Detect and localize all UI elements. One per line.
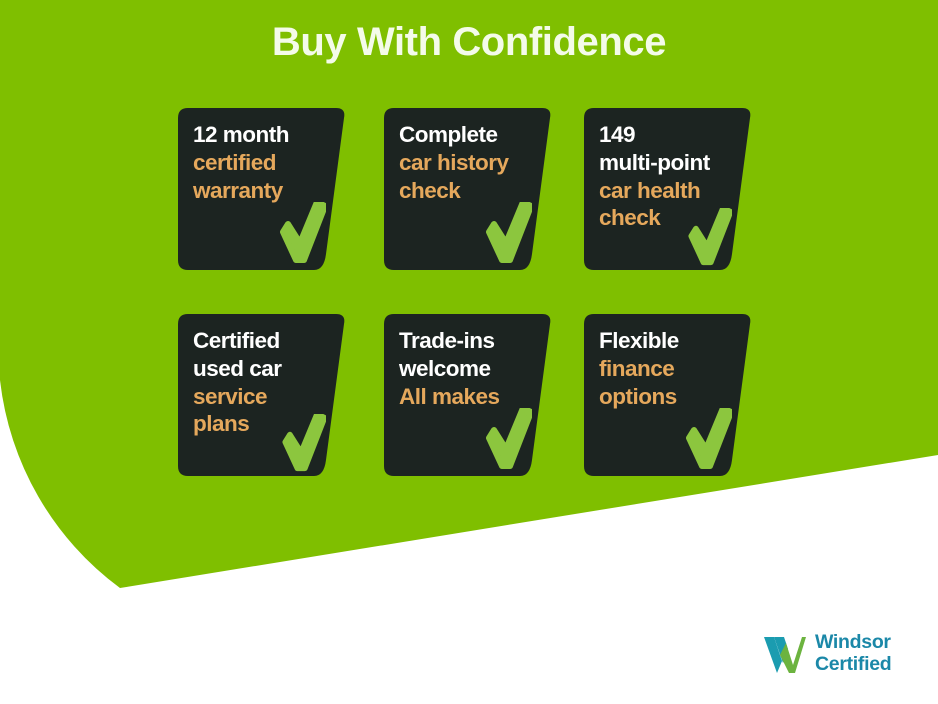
page-title: Buy With Confidence	[0, 18, 938, 66]
logo-line-2: Certified	[815, 654, 891, 676]
check-mark-icon	[686, 208, 732, 266]
logo-line-1: Windsor	[815, 632, 891, 654]
card-line-accent: warranty	[193, 177, 335, 205]
benefit-card-12-month-certified-warranty[interactable]: 12 month certified warranty	[178, 108, 346, 270]
benefit-card-complete-car-history-check[interactable]: Complete car history check	[384, 108, 552, 270]
card-line-accent: options	[599, 383, 741, 411]
card-line-accent: All makes	[399, 383, 541, 411]
logo-wordmark: Windsor Certified	[815, 632, 891, 676]
benefit-card-certified-used-car-service-plans[interactable]: Certified used car service plans	[178, 314, 346, 476]
card-line-accent: car health	[599, 177, 741, 205]
card-line-white: used car	[193, 355, 335, 383]
benefit-card-flexible-finance-options[interactable]: Flexible finance options	[584, 314, 752, 476]
benefit-card-grid: 12 month certified warranty Complete car…	[178, 108, 758, 476]
card-text: 12 month certified warranty	[193, 121, 335, 204]
check-mark-icon	[280, 414, 326, 472]
card-line-white: Flexible	[599, 327, 741, 355]
check-mark-icon	[278, 202, 326, 264]
card-text: Complete car history check	[399, 121, 541, 204]
card-line-white: welcome	[399, 355, 541, 383]
card-line-white: Certified	[193, 327, 335, 355]
card-line-white: 149	[599, 121, 741, 149]
check-mark-icon	[484, 202, 532, 264]
card-text: Trade-ins welcome All makes	[399, 327, 541, 410]
card-line-accent: certified	[193, 149, 335, 177]
card-line-white: 12 month	[193, 121, 335, 149]
card-line-white: Trade-ins	[399, 327, 541, 355]
card-text: Flexible finance options	[599, 327, 741, 410]
card-line-accent: check	[399, 177, 541, 205]
check-mark-icon	[484, 408, 532, 470]
benefit-card-149-multi-point-car-health-check[interactable]: 149 multi-point car health check	[584, 108, 752, 270]
card-line-white: multi-point	[599, 149, 741, 177]
card-line-accent: car history	[399, 149, 541, 177]
windsor-certified-logo[interactable]: Windsor Certified	[762, 626, 928, 682]
card-line-accent: finance	[599, 355, 741, 383]
card-line-white: Complete	[399, 121, 541, 149]
benefit-card-trade-ins-welcome-all-makes[interactable]: Trade-ins welcome All makes	[384, 314, 552, 476]
windsor-w-icon	[762, 635, 806, 673]
card-line-accent: service	[193, 383, 335, 411]
check-mark-icon	[684, 408, 732, 470]
